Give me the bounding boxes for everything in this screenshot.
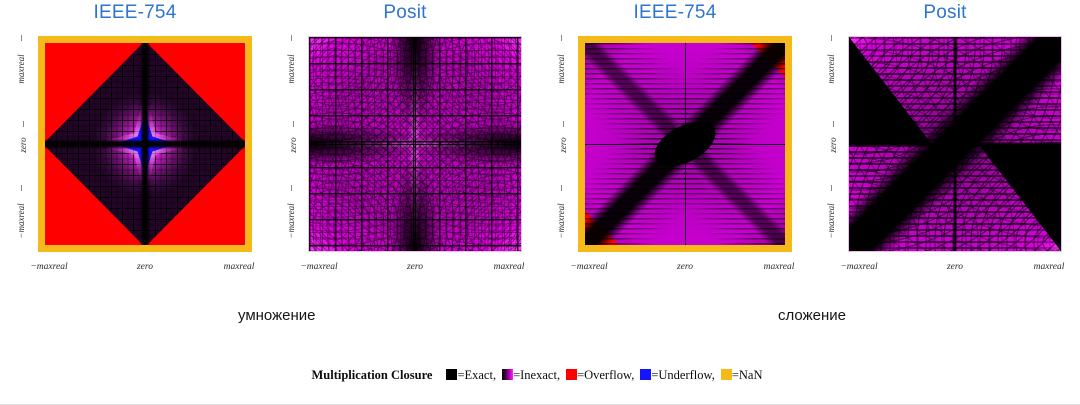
heatmap-canvas: [45, 43, 245, 245]
plot-area[interactable]: [38, 36, 252, 252]
y-tick-zero: zero: [828, 127, 838, 163]
x-tick-maxreal: maxreal: [476, 262, 542, 272]
heatmap-canvas: [585, 43, 785, 245]
legend-item-overflow: =Overflow,: [566, 368, 634, 382]
plot-area[interactable]: [848, 36, 1062, 252]
swatch-nan-icon: [721, 369, 732, 380]
panel-title: IEEE-754: [540, 2, 810, 24]
legend: Multiplication Closure=Exact,=Inexact,=O…: [0, 368, 1080, 383]
panel-posit-multiplication[interactable]: Posit maxreal zero −maxreal −maxreal zer…: [270, 0, 540, 285]
legend-item-underflow: =Underflow,: [640, 368, 715, 382]
x-tick-maxreal: maxreal: [1016, 262, 1080, 272]
x-tick-neg-maxreal: −maxreal: [14, 262, 84, 272]
x-tick-zero: zero: [110, 262, 180, 272]
axis-line-horizontal: [309, 144, 521, 145]
y-tick-maxreal: maxreal: [826, 41, 836, 97]
legend-sep: ,: [712, 368, 715, 382]
legend-sep: ,: [493, 368, 496, 382]
caption-addition: сложение: [778, 307, 846, 324]
figure-frame: IEEE-754 maxreal zero: [0, 0, 1080, 405]
legend-item-inexact: =Inexact,: [502, 368, 560, 382]
x-tick-zero: zero: [920, 262, 990, 272]
x-tick-zero: zero: [380, 262, 450, 272]
legend-item-exact: =Exact,: [446, 368, 496, 382]
x-tick-neg-maxreal: −maxreal: [554, 262, 624, 272]
legend-label-exact: =Exact: [457, 368, 493, 382]
heatmap-canvas: [309, 37, 521, 251]
x-tick-zero: zero: [650, 262, 720, 272]
axis-line-horizontal: [585, 144, 785, 145]
heatmap-canvas: [849, 37, 1061, 251]
caption-multiplication: умножение: [238, 307, 315, 324]
x-tick-neg-maxreal: −maxreal: [824, 262, 894, 272]
panel-title: Posit: [270, 2, 540, 24]
y-tick-maxreal: maxreal: [16, 41, 26, 97]
y-tick-neg-maxreal: −maxreal: [826, 191, 836, 251]
legend-label-nan: =NaN: [732, 368, 763, 382]
plot-border: [308, 36, 522, 252]
legend-item-nan: =NaN: [721, 368, 763, 382]
y-tick-neg-maxreal: −maxreal: [16, 191, 26, 251]
plot-border: [848, 36, 1062, 252]
y-tick-neg-maxreal: −maxreal: [286, 191, 296, 251]
swatch-underflow-icon: [640, 369, 651, 380]
legend-label-inexact: =Inexact: [513, 368, 557, 382]
nan-frame: [38, 36, 252, 252]
x-tick-maxreal: maxreal: [206, 262, 272, 272]
plot-area[interactable]: [308, 36, 522, 252]
x-tick-maxreal: maxreal: [746, 262, 812, 272]
panel-ieee754-addition[interactable]: IEEE-754: [540, 0, 810, 285]
legend-sep: ,: [557, 368, 560, 382]
y-tick-zero: zero: [18, 127, 28, 163]
x-tick-neg-maxreal: −maxreal: [284, 262, 354, 272]
nan-frame: [578, 36, 792, 252]
y-tick-maxreal: maxreal: [556, 41, 566, 97]
legend-label-underflow: =Underflow: [651, 368, 711, 382]
swatch-exact-icon: [446, 369, 457, 380]
panels-row: IEEE-754 maxreal zero: [0, 0, 1080, 285]
y-tick-neg-maxreal: −maxreal: [556, 191, 566, 251]
legend-label-overflow: =Overflow: [577, 368, 631, 382]
axis-line-horizontal: [849, 144, 1061, 145]
panel-posit-addition[interactable]: Posit maxreal z: [810, 0, 1080, 285]
y-tick-zero: zero: [288, 127, 298, 163]
y-tick-maxreal: maxreal: [286, 41, 296, 97]
axis-line-horizontal: [45, 144, 245, 145]
swatch-inexact-icon: [502, 369, 513, 380]
plot-area[interactable]: [578, 36, 792, 252]
swatch-overflow-icon: [566, 369, 577, 380]
panel-ieee754-multiplication[interactable]: IEEE-754 maxreal zero: [0, 0, 270, 285]
panel-title: IEEE-754: [0, 2, 270, 24]
legend-sep: ,: [631, 368, 634, 382]
panel-title: Posit: [810, 2, 1080, 24]
legend-title: Multiplication Closure: [311, 368, 432, 382]
y-tick-zero: zero: [558, 127, 568, 163]
